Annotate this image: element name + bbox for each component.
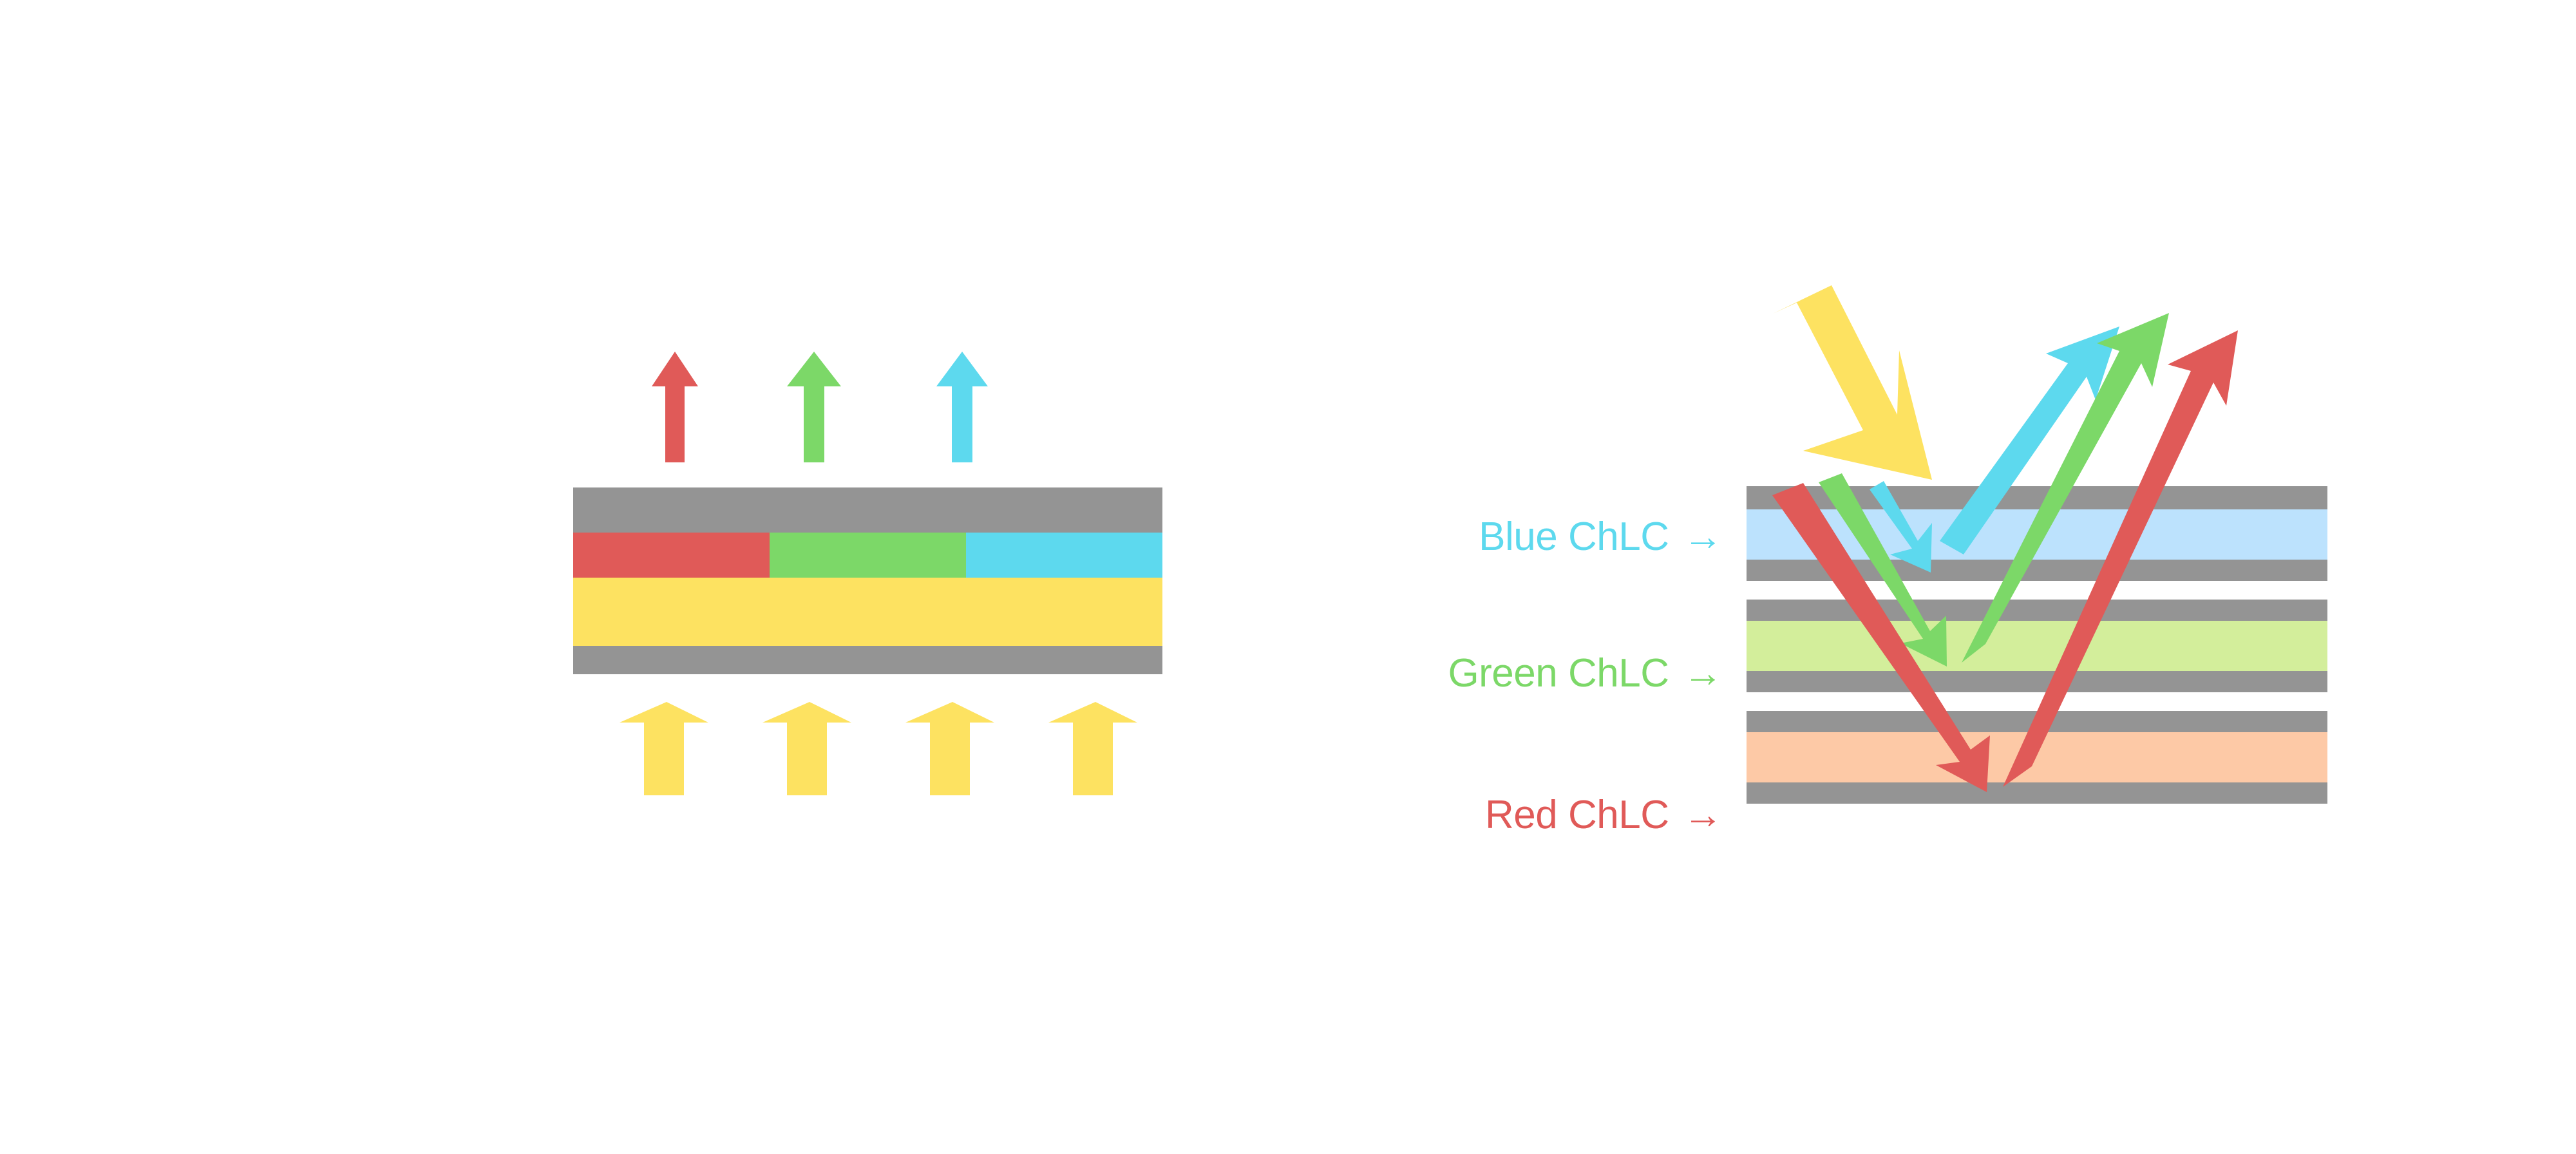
label-green-chlc-arrow-icon: → [1683, 651, 1723, 695]
label-blue-chlc-text: Blue ChLC [1479, 515, 1669, 559]
label-green-chlc-text: Green ChLC [1448, 651, 1669, 695]
label-green-chlc: Green ChLC→ [1401, 650, 1723, 696]
label-red-chlc-arrow-icon: → [1683, 793, 1723, 837]
label-blue-chlc: Blue ChLC→ [1446, 514, 1723, 560]
right-panel-labels: Blue ChLC→ Green ChLC→ Red ChLC→ [0, 0, 2576, 1154]
label-red-chlc: Red ChLC→ [1446, 792, 1723, 838]
diagram-canvas: Blue ChLC→ Green ChLC→ Red ChLC→ [0, 0, 2576, 1154]
label-red-chlc-text: Red ChLC [1485, 793, 1669, 837]
label-blue-chlc-arrow-icon: → [1683, 515, 1723, 559]
